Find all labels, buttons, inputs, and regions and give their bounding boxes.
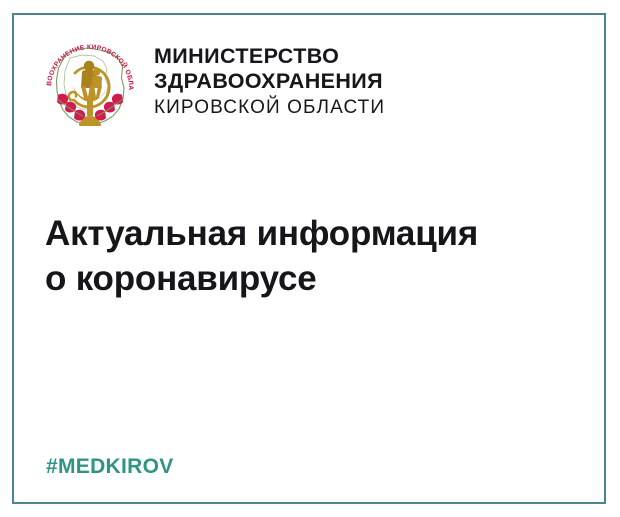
ministry-name-block: МИНИСТЕРСТВО ЗДРАВООХРАНЕНИЯ КИРОВСКОЙ О… [154, 36, 385, 121]
footer-hashtag: #MEDKIROV [46, 455, 174, 479]
ministry-of-health-kirov-emblem-icon: ЗДРАВООХРАНЕНИЕ КИРОВСКОЙ ОБЛАСТИ · · · [40, 36, 140, 136]
headline-line-2: о коронавирусе [45, 257, 565, 302]
ministry-brand-lockup: ЗДРАВООХРАНЕНИЕ КИРОВСКОЙ ОБЛАСТИ · · · [40, 36, 385, 136]
headline: Актуальная информация о коронавирусе [45, 212, 565, 302]
poster-canvas: ЗДРАВООХРАНЕНИЕ КИРОВСКОЙ ОБЛАСТИ · · · [0, 0, 620, 517]
ministry-name-line-2: ЗДРАВООХРАНЕНИЯ [154, 69, 385, 94]
ministry-name-line-1: МИНИСТЕРСТВО [154, 44, 385, 69]
headline-line-1: Актуальная информация [45, 212, 565, 257]
ministry-region-line: КИРОВСКОЙ ОБЛАСТИ [154, 96, 385, 121]
